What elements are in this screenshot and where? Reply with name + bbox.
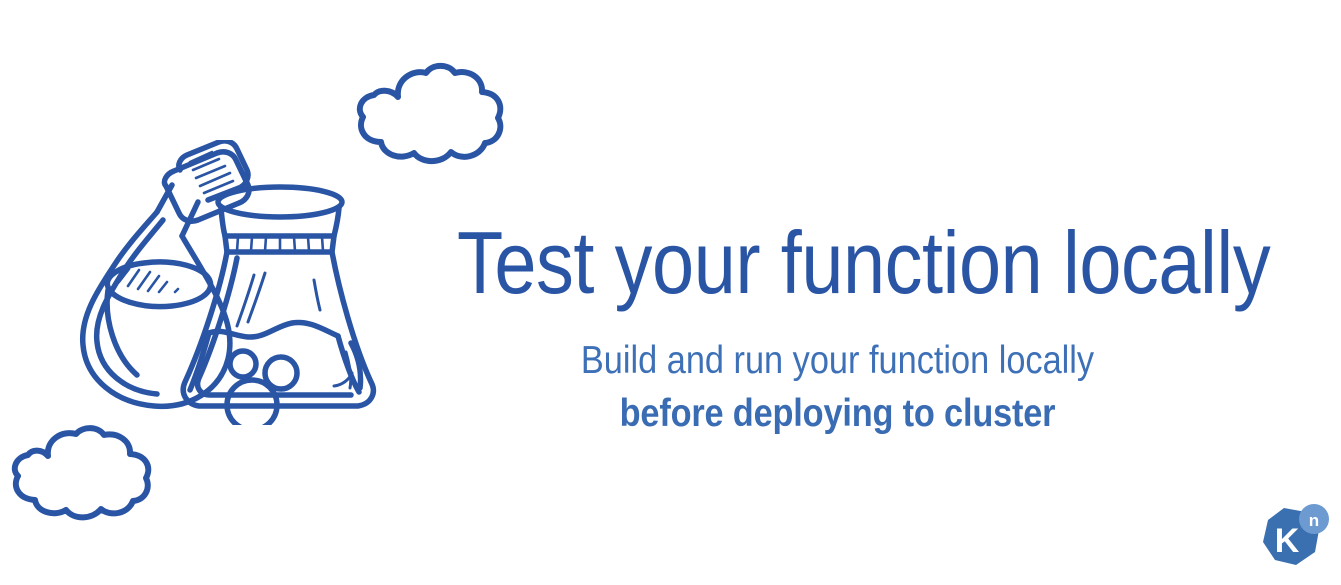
logo-letter-k: K [1275,522,1300,560]
knative-logo: K n [1249,500,1333,578]
chemistry-flasks-illustration [62,140,392,425]
cloud-bottom-icon [6,424,158,522]
text-block: Test your function locally Build and run… [395,218,1280,440]
subtitle-line-2: before deploying to cluster [448,387,1227,440]
cloud-top-icon [352,62,508,170]
logo-letter-n: n [1309,511,1319,530]
subtitle-group: Build and run your function locally befo… [395,334,1280,440]
slide-canvas: Test your function locally Build and run… [0,0,1341,585]
subtitle-line-1: Build and run your function locally [448,334,1227,387]
page-title: Test your function locally [457,218,1218,308]
